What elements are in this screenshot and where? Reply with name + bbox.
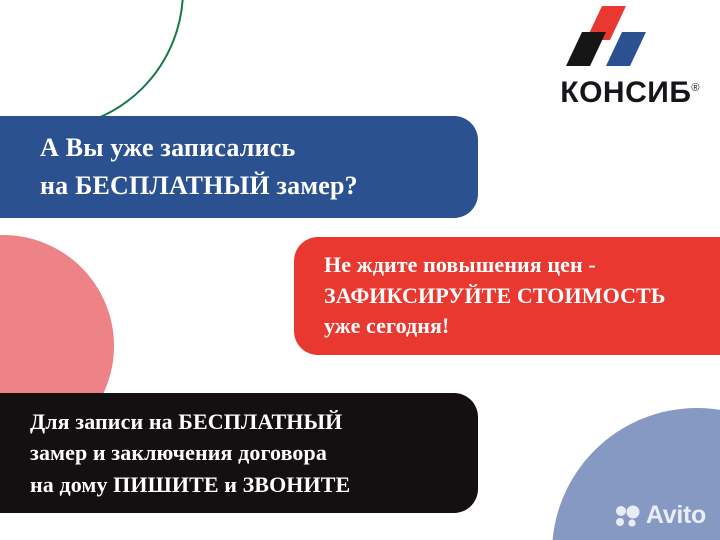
panel-black-cta: Для записи на БЕСПЛАТНЫЙ замер и заключе… <box>0 393 478 513</box>
panel-red-line-1: Не ждите повышения цен - <box>324 250 720 281</box>
panel-red-line-2: ЗАФИКСИРУЙТЕ СТОИМОСТЬ <box>324 281 720 312</box>
logo-wordmark-text: КОНСИБ <box>560 76 691 109</box>
panel-blue-line-2: на БЕСПЛАТНЫЙ замер? <box>40 167 452 205</box>
panel-black-line-3: на дому ПИШИТЕ и ЗВОНИТЕ <box>30 469 454 500</box>
panel-blue-headline: А Вы уже записались на БЕСПЛАТНЫЙ замер? <box>0 116 478 218</box>
avito-wordmark: Avito <box>646 503 706 528</box>
logo-wordmark: КОНСИБ® <box>560 78 700 108</box>
konsib-logo-mark-icon <box>528 6 704 68</box>
panel-red-line-3: уже сегодня! <box>324 311 720 342</box>
avito-dots-icon <box>615 505 641 527</box>
panel-black-line-2: замер и заключения договора <box>30 437 454 468</box>
registered-trademark-mark: ® <box>691 82 700 94</box>
company-logo: КОНСИБ® <box>528 6 704 110</box>
panel-blue-line-1: А Вы уже записались <box>40 129 452 167</box>
panel-black-line-1: Для записи на БЕСПЛАТНЫЙ <box>30 406 454 437</box>
panel-red-urgency: Не ждите повышения цен - ЗАФИКСИРУЙТЕ СТ… <box>294 237 720 355</box>
green-outline-circle-icon <box>0 0 184 130</box>
promo-poster: КОНСИБ® А Вы уже записались на БЕСПЛАТНЫ… <box>0 0 720 540</box>
avito-watermark: Avito <box>615 503 706 528</box>
